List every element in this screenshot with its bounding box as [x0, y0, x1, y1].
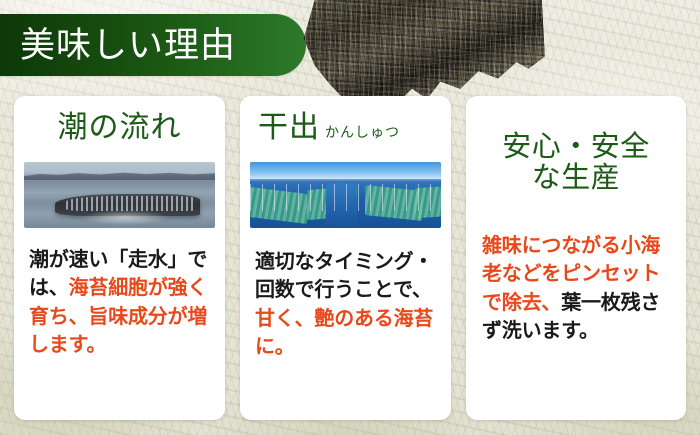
- card-photo-sea-nori-boat: [24, 162, 215, 228]
- card-body-1-seg-0: 潮が速い「走水」: [29, 249, 187, 271]
- card-body-2: 適切なタイミング・回数で行うことで、甘く、艶のある海苔に。: [255, 248, 437, 362]
- card-title-1-main: 潮の流れ: [58, 111, 182, 144]
- header-banner: 美味しい理由: [0, 14, 306, 76]
- card-photo-nori-farm-nets: [250, 162, 441, 228]
- support-posts: [250, 184, 441, 210]
- card-title-1: 潮の流れ: [14, 112, 225, 144]
- card-body-1: 潮が速い「走水」では、海苔細胞が強く育ち、旨味成分が増します。: [29, 246, 211, 360]
- card-body-1-seg-2: 海苔細胞: [69, 277, 148, 299]
- card-body-3: 雑味につながる小海老などをピンセットで除去、葉一枚残さず洗います。: [482, 232, 672, 346]
- reason-card-kanshutsu[interactable]: 干出かんしゅつ 適切なタイミング・回数で行うことで、甘く、艶のある海苔に。: [240, 96, 451, 420]
- card-title-3-line1: 安心・安全: [466, 132, 686, 163]
- reason-card-shio-no-nagare[interactable]: 潮の流れ 潮が速い「走水」では、海苔細胞が強く育ち、旨味成分が増します。: [14, 96, 225, 420]
- water-shine: [81, 210, 169, 226]
- card-body-2-seg-1: 甘く、艶のある海苔に。: [255, 308, 433, 358]
- sky-layer: [250, 162, 441, 179]
- farm-photo-layer: [250, 162, 441, 228]
- card-body-2-seg-0: 適切なタイミング・回数で行うことで、: [255, 251, 433, 301]
- card-title-2-main: 干出: [258, 111, 320, 144]
- reason-card-anshin-anzen[interactable]: 安心・安全 な生産 雑味につながる小海老などをピンセットで除去、葉一枚残さず洗い…: [466, 96, 686, 420]
- sea-photo-layer: [24, 162, 215, 228]
- page-title: 美味しい理由: [20, 28, 236, 63]
- card-title-3-line2: な生産: [466, 163, 686, 194]
- card-title-2: 干出かんしゅつ: [240, 112, 451, 144]
- card-title-2-ruby: かんしゅつ: [325, 126, 400, 141]
- coastline-hills: [24, 170, 215, 181]
- card-title-3: 安心・安全 な生産: [466, 132, 686, 193]
- poster-stage: 美味しい理由 潮の流れ 潮が速い「走水」では、海苔細胞が強く育ち、旨味成分が増し…: [0, 0, 700, 435]
